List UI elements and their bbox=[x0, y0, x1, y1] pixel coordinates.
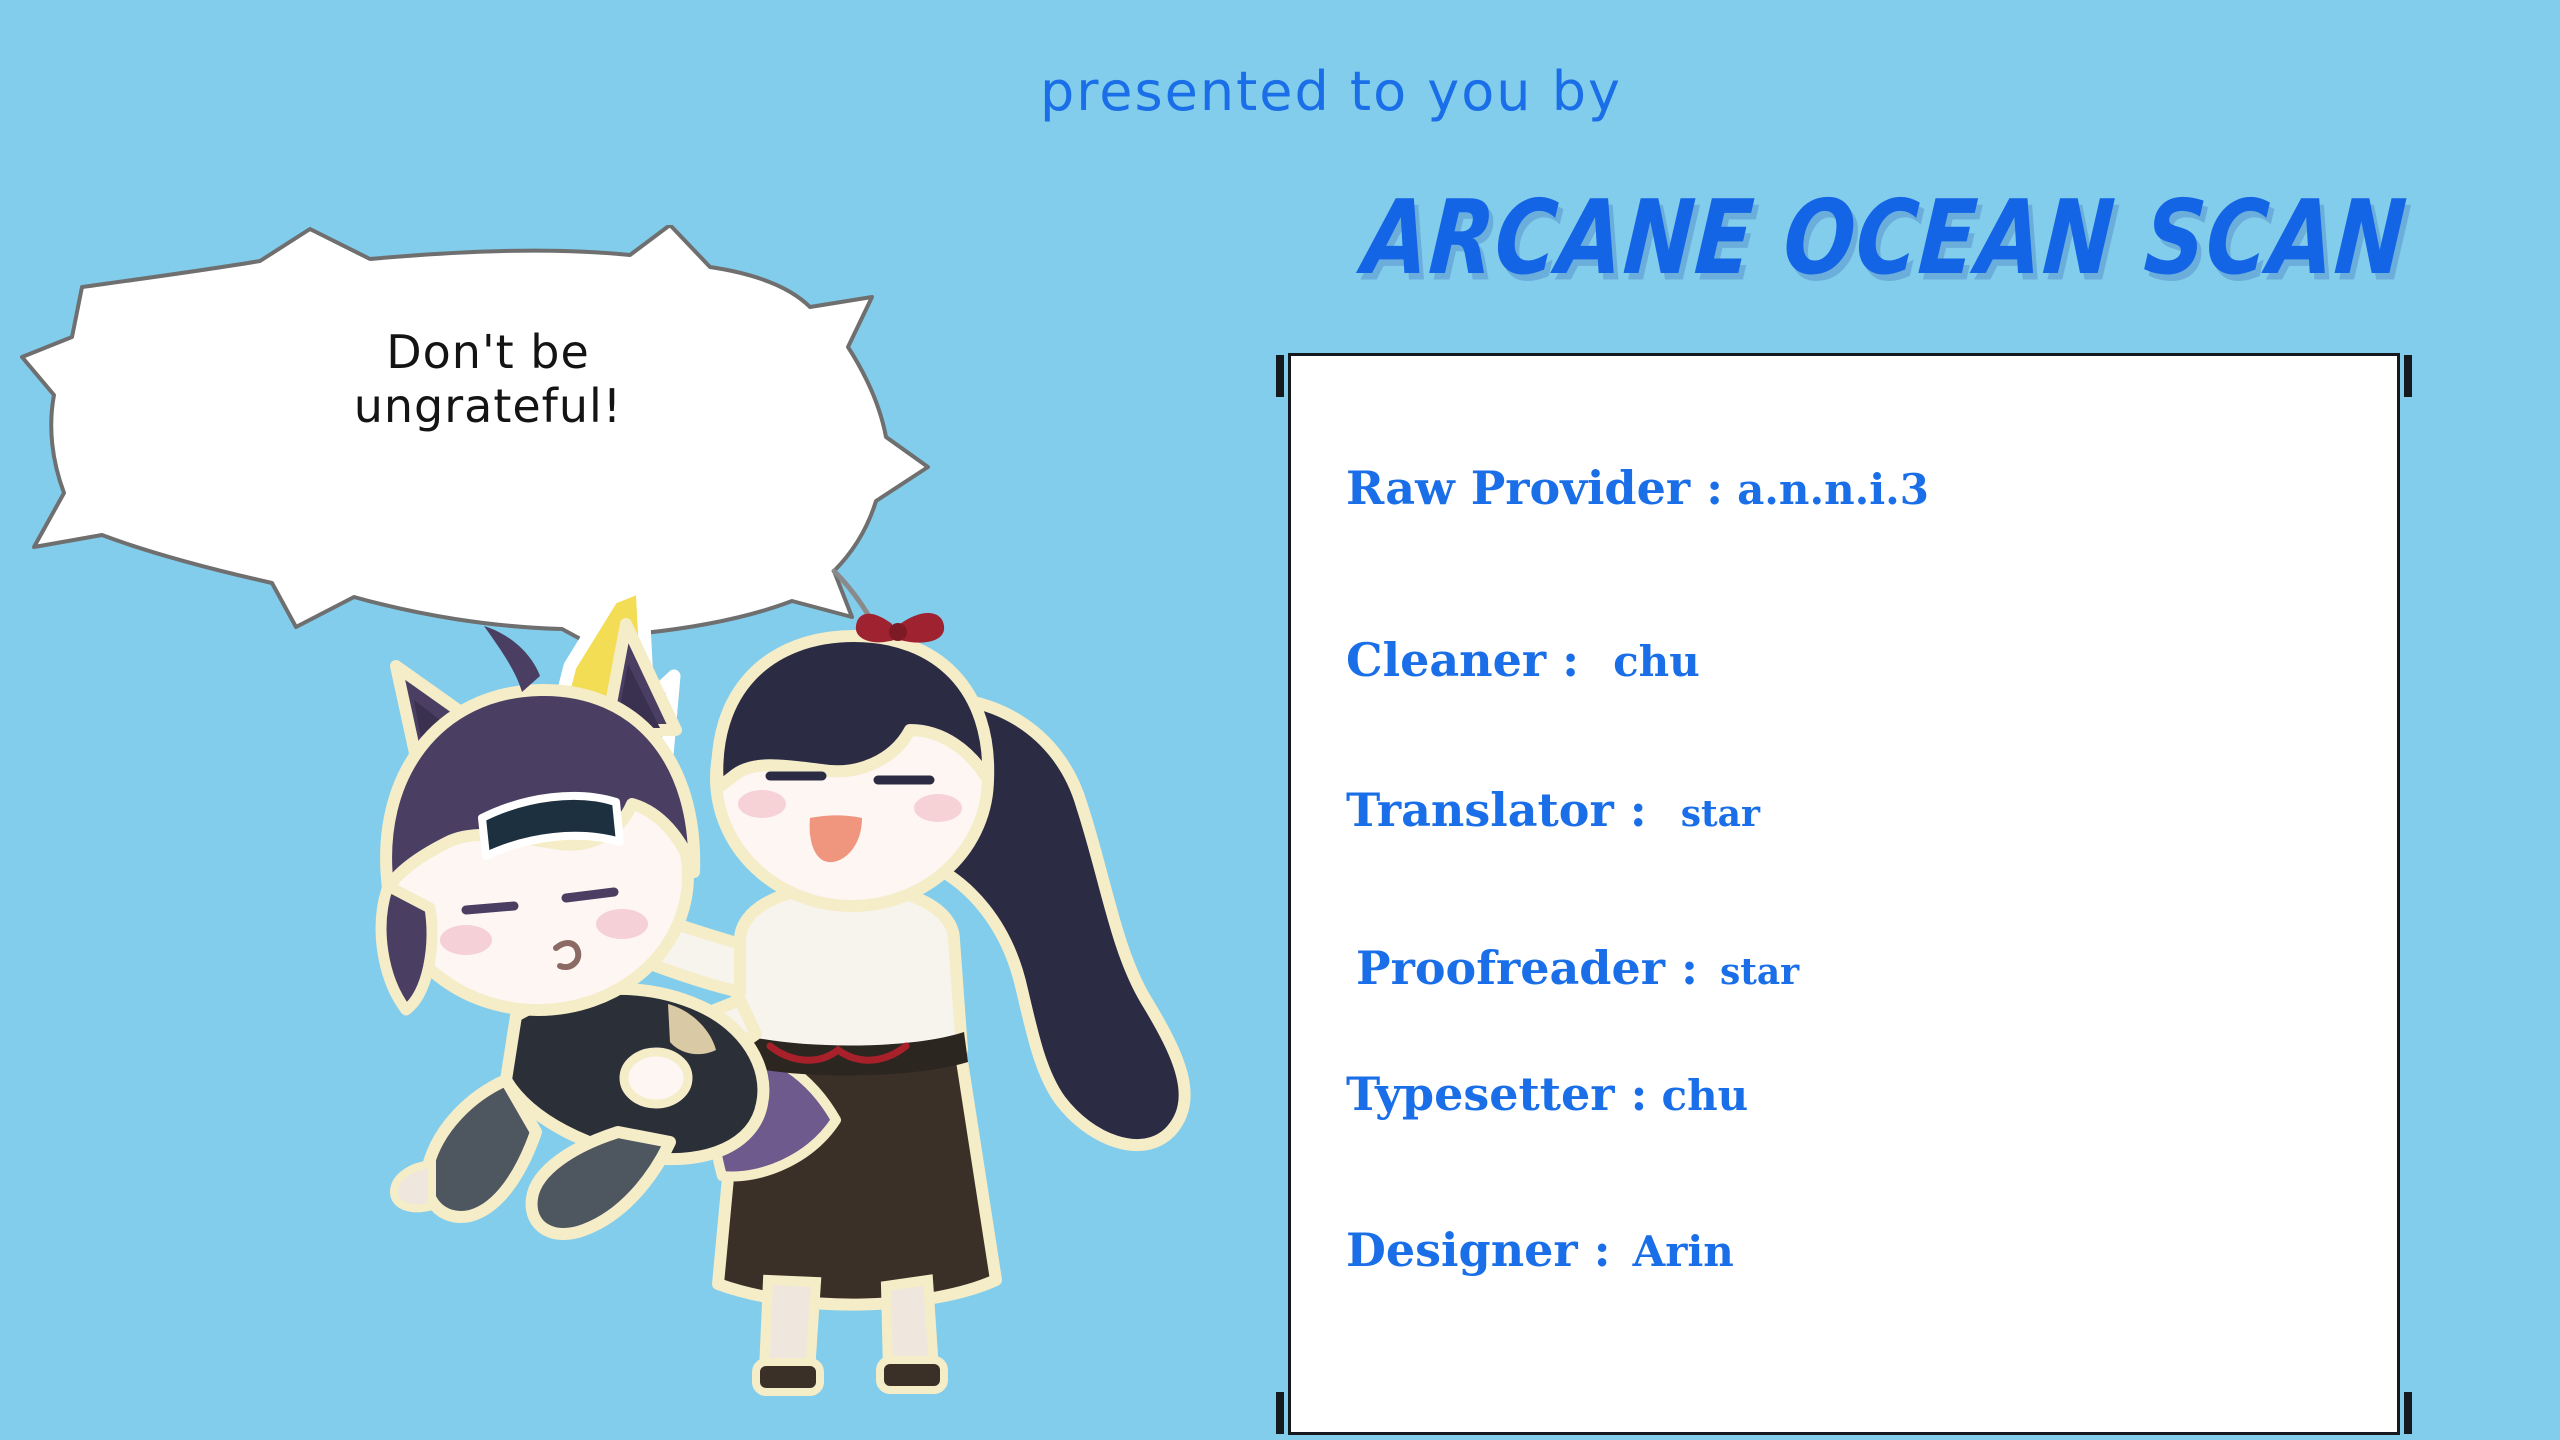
credit-role-label: Typesetter : bbox=[1346, 1067, 1648, 1121]
credit-row-raw-provider: Raw Provider :a.n.n.i.3 bbox=[1346, 461, 1929, 515]
credit-row-proofreader: Proofreader :star bbox=[1356, 941, 1799, 995]
credit-name-value: a.n.n.i.3 bbox=[1737, 465, 1929, 514]
credit-row-typesetter: Typesetter :chu bbox=[1346, 1067, 1748, 1121]
chibi-characters-illustration bbox=[270, 580, 1310, 1410]
corner-tick-top-left bbox=[1276, 355, 1284, 397]
credit-name-value: chu bbox=[1613, 637, 1700, 686]
credit-name-value: star bbox=[1720, 951, 1799, 993]
credits-list: Raw Provider :a.n.n.i.3 Cleaner :chu Tra… bbox=[1288, 353, 2400, 1435]
credit-name-value: star bbox=[1681, 793, 1760, 835]
credit-role-label: Raw Provider : bbox=[1346, 461, 1723, 515]
credit-role-label: Cleaner : bbox=[1346, 633, 1579, 687]
speech-bubble-text: Don't be ungrateful! bbox=[278, 325, 698, 434]
credit-role-label: Proofreader : bbox=[1356, 941, 1698, 995]
credit-role-label: Designer : bbox=[1346, 1223, 1611, 1277]
corner-tick-bottom-left bbox=[1276, 1392, 1284, 1434]
credit-role-label: Translator : bbox=[1346, 783, 1647, 837]
credit-row-designer: Designer :Arin bbox=[1346, 1223, 1734, 1277]
credit-name-value: chu bbox=[1662, 1071, 1749, 1120]
credit-row-translator: Translator :star bbox=[1346, 783, 1760, 837]
presented-to-you-by-label: presented to you by bbox=[1040, 60, 1622, 123]
credit-name-value: Arin bbox=[1633, 1227, 1734, 1276]
scan-group-title: ARCANE OCEAN SCAN bbox=[1360, 178, 2411, 298]
corner-tick-top-right bbox=[2404, 355, 2412, 397]
corner-tick-bottom-right bbox=[2404, 1392, 2412, 1434]
speech-line-2: ungrateful! bbox=[278, 379, 698, 433]
credits-page: presented to you by ARCANE OCEAN SCAN Do… bbox=[0, 0, 2560, 1440]
speech-line-1: Don't be bbox=[278, 325, 698, 379]
credit-row-cleaner: Cleaner :chu bbox=[1346, 633, 1700, 687]
